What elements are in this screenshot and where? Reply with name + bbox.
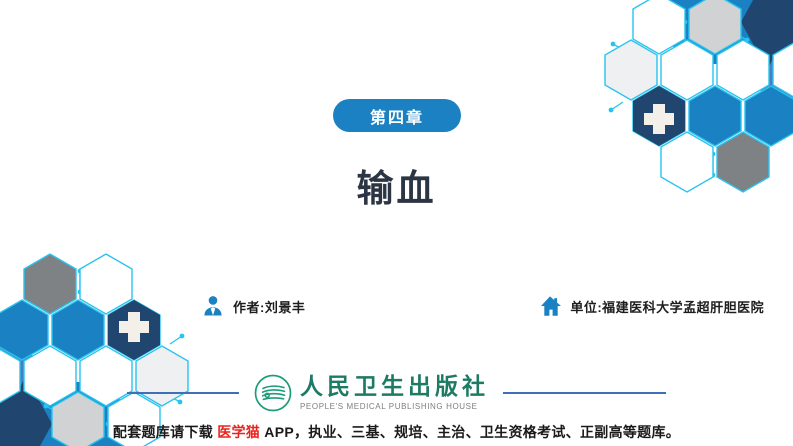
promo-prefix: 配套题库请下载 bbox=[113, 424, 217, 440]
divider-line-right bbox=[503, 392, 666, 394]
promo-suffix: APP，执业、三基、规培、主治、卫生资格考试、正副高等题库。 bbox=[260, 424, 680, 440]
publisher-name-en: PEOPLE'S MEDICAL PUBLISHING HOUSE bbox=[300, 402, 489, 411]
chapter-badge: 第四章 bbox=[333, 99, 461, 132]
promo-banner: 配套题库请下载 医学猫 APP，执业、三基、规培、主治、卫生资格考试、正副高等题… bbox=[0, 422, 793, 442]
medical-cross-hexagon bbox=[633, 86, 685, 146]
pmph-emblem-icon bbox=[253, 373, 293, 413]
author-label: 作者:刘景丰 bbox=[233, 297, 305, 316]
slide-meta-row: 作者:刘景丰 单位:福建医科大学孟超肝胆医院 bbox=[0, 294, 793, 318]
divider-line-left bbox=[127, 392, 239, 394]
publisher-name-cn: 人民卫生出版社 bbox=[300, 375, 489, 399]
hex-connector-lines bbox=[611, 10, 751, 174]
affiliation-info: 单位:福建医科大学孟超肝胆医院 bbox=[538, 294, 764, 318]
corner-slab-navy bbox=[741, 0, 793, 66]
person-icon bbox=[201, 294, 225, 318]
hex-connector-dots bbox=[609, 8, 754, 178]
publisher-block: 人民卫生出版社 PEOPLE'S MEDICAL PUBLISHING HOUS… bbox=[0, 373, 793, 413]
slide-title: 输血 bbox=[0, 158, 793, 212]
chapter-badge-label: 第四章 bbox=[370, 104, 424, 128]
cross-icon bbox=[644, 104, 674, 134]
promo-brand-name: 医学猫 bbox=[217, 424, 260, 440]
presentation-slide: 第四章 输血 作者:刘景丰 单位:福建医科大学孟超肝胆医院 bbox=[0, 0, 793, 446]
author-info: 作者:刘景丰 bbox=[201, 294, 305, 318]
affiliation-label: 单位:福建医科大学孟超肝胆医院 bbox=[570, 297, 764, 316]
publisher-logo: 人民卫生出版社 PEOPLE'S MEDICAL PUBLISHING HOUS… bbox=[253, 373, 489, 413]
corner-slab-midblue bbox=[759, 54, 793, 120]
corner-slab-blue bbox=[651, 0, 793, 64]
hexagon-cluster bbox=[0, 254, 188, 446]
decorative-hexagon-artwork-bottom-left bbox=[0, 249, 204, 446]
home-icon bbox=[538, 294, 562, 318]
